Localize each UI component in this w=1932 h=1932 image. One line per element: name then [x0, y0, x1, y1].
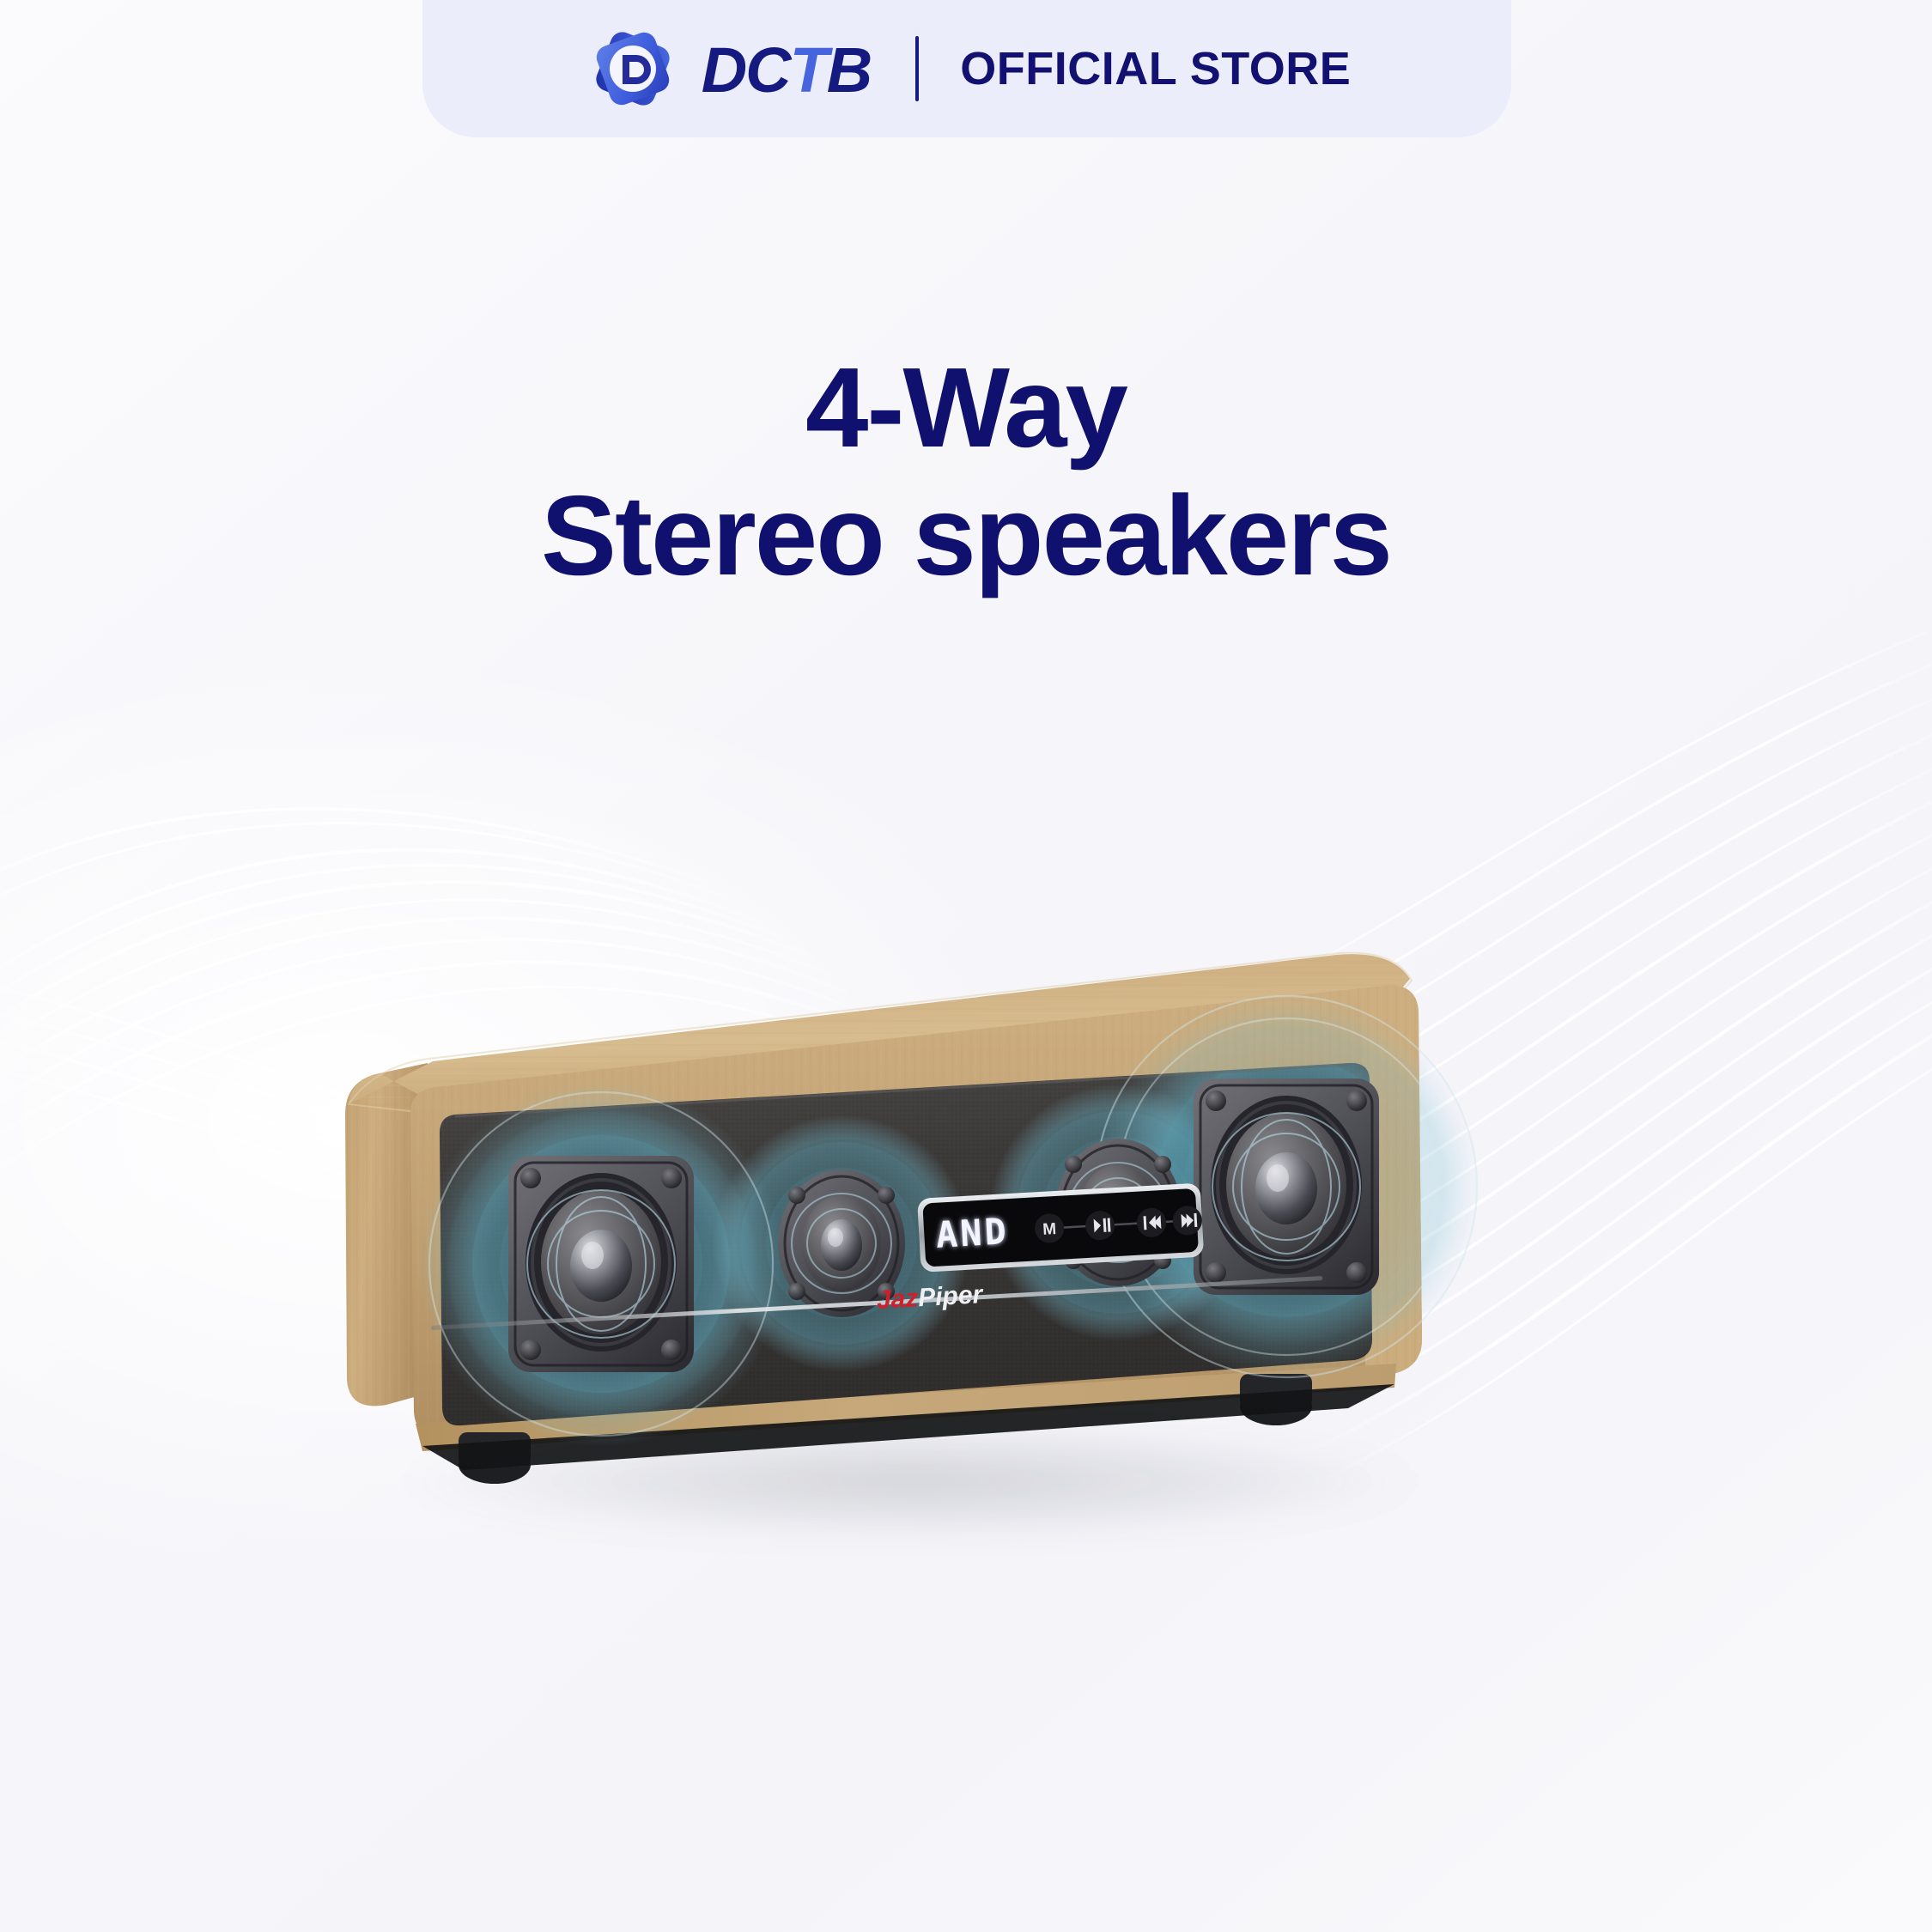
- driver-screw: [1065, 1156, 1082, 1173]
- dctb-diamond-logo-icon: [583, 19, 683, 118]
- dctb-wordmark-t: T: [790, 34, 827, 106]
- dctb-wordmark-dc: DC: [702, 34, 790, 106]
- driver-screw: [661, 1168, 682, 1188]
- control-display-panel: AND AND M: [917, 1183, 1204, 1273]
- woofer-right: [1194, 1078, 1379, 1295]
- jazpiper-piper: Piper: [917, 1280, 985, 1312]
- driver-screw: [788, 1187, 805, 1204]
- official-store-label: OFFICIAL STORE: [960, 46, 1351, 92]
- official-store-header: DCTB OFFICIAL STORE: [422, 0, 1511, 137]
- driver-screw: [788, 1283, 805, 1300]
- driver-screw: [1346, 1091, 1367, 1111]
- product-banner-canvas: DCTB OFFICIAL STORE 4-Way Stereo speaker…: [0, 0, 1932, 1932]
- svg-text:M: M: [1042, 1220, 1057, 1239]
- jazpiper-text: JazPiper: [876, 1280, 985, 1315]
- woofer-left: [508, 1156, 694, 1372]
- headline-line-2: Stereo speakers: [0, 471, 1932, 599]
- headline-line-1: 4-Way: [0, 343, 1932, 471]
- driver-screw: [1346, 1262, 1367, 1283]
- dctb-wordmark: DCTB: [702, 39, 872, 102]
- header-divider: [915, 36, 919, 101]
- jazpiper-jaz: Jaz: [876, 1284, 919, 1315]
- driver-screw: [878, 1187, 895, 1204]
- led-readout-text-sharp: AND: [935, 1210, 1010, 1256]
- driver-screw: [1206, 1091, 1226, 1111]
- driver-screw: [520, 1340, 541, 1360]
- page-title: 4-Way Stereo speakers: [0, 343, 1932, 599]
- speaker-product-image: AND AND M: [326, 910, 1597, 1528]
- dctb-wordmark-b: B: [827, 34, 871, 106]
- driver-screw: [661, 1340, 682, 1360]
- driver-screw: [1154, 1156, 1171, 1173]
- driver-screw: [520, 1168, 541, 1188]
- driver-screw: [1206, 1262, 1226, 1283]
- speaker-cabinet: AND AND M: [345, 953, 1479, 1484]
